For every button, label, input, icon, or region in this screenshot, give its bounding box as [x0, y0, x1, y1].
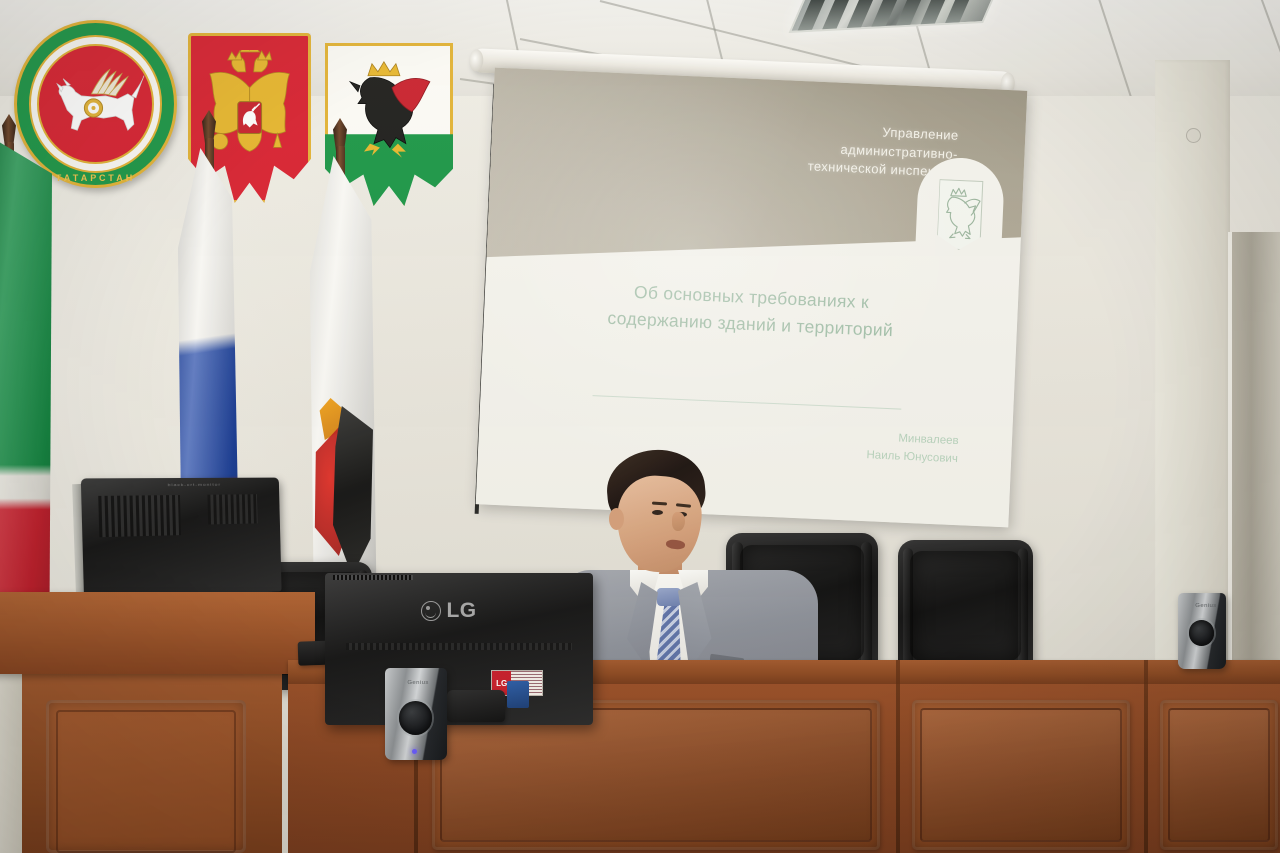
slide-author: Минвалеев Наиль Юнусович	[866, 429, 959, 469]
wall-fixture-hole	[1186, 128, 1201, 143]
screen-case-cap-left	[469, 49, 484, 72]
desktop-speaker-left[interactable]: Genius	[385, 668, 447, 760]
necktie-knot	[657, 588, 681, 606]
podium-side-panel	[0, 668, 24, 853]
slide-divider-rule	[592, 396, 901, 410]
office-chair[interactable]	[898, 540, 1033, 678]
speaker-power-led	[412, 749, 417, 754]
vga-connector	[507, 681, 529, 708]
speaker-brand-text: Genius	[407, 680, 428, 685]
wall-recess	[1232, 232, 1280, 702]
desktop-speaker-right[interactable]: Genius	[1178, 593, 1226, 669]
desk-front-panel	[912, 700, 1130, 850]
desk-panel-divider	[1144, 660, 1148, 853]
eye-left	[652, 510, 663, 515]
conference-room-scene: ТАТАРСТАН	[0, 0, 1280, 853]
podium-top	[0, 592, 315, 674]
speaker-cone-icon	[399, 701, 432, 734]
ear	[609, 508, 624, 530]
monitor-vent-strip	[333, 575, 413, 580]
slide-title: Об основных требованиях к содержанию зда…	[526, 275, 976, 347]
desk-front-panel	[1160, 700, 1278, 850]
lg-brand-text: LG	[446, 599, 476, 623]
speaker-cone-icon	[1189, 620, 1215, 646]
slide-author-given-name: Наиль Юнусович	[866, 447, 958, 469]
lg-logo-icon: LG	[421, 599, 476, 623]
face	[614, 473, 704, 575]
podium-monitor[interactable]: black-crt-monitor	[81, 478, 282, 601]
desk-device-box	[447, 690, 505, 722]
speaker-brand-text: Genius	[1195, 603, 1216, 608]
desk-panel-divider	[896, 660, 900, 853]
podium-front-panel	[46, 700, 246, 853]
zilant-dragon-icon	[937, 179, 984, 251]
slide-emblem-plate	[915, 156, 1006, 270]
monitor-brand-text: black-crt-monitor	[168, 482, 221, 487]
